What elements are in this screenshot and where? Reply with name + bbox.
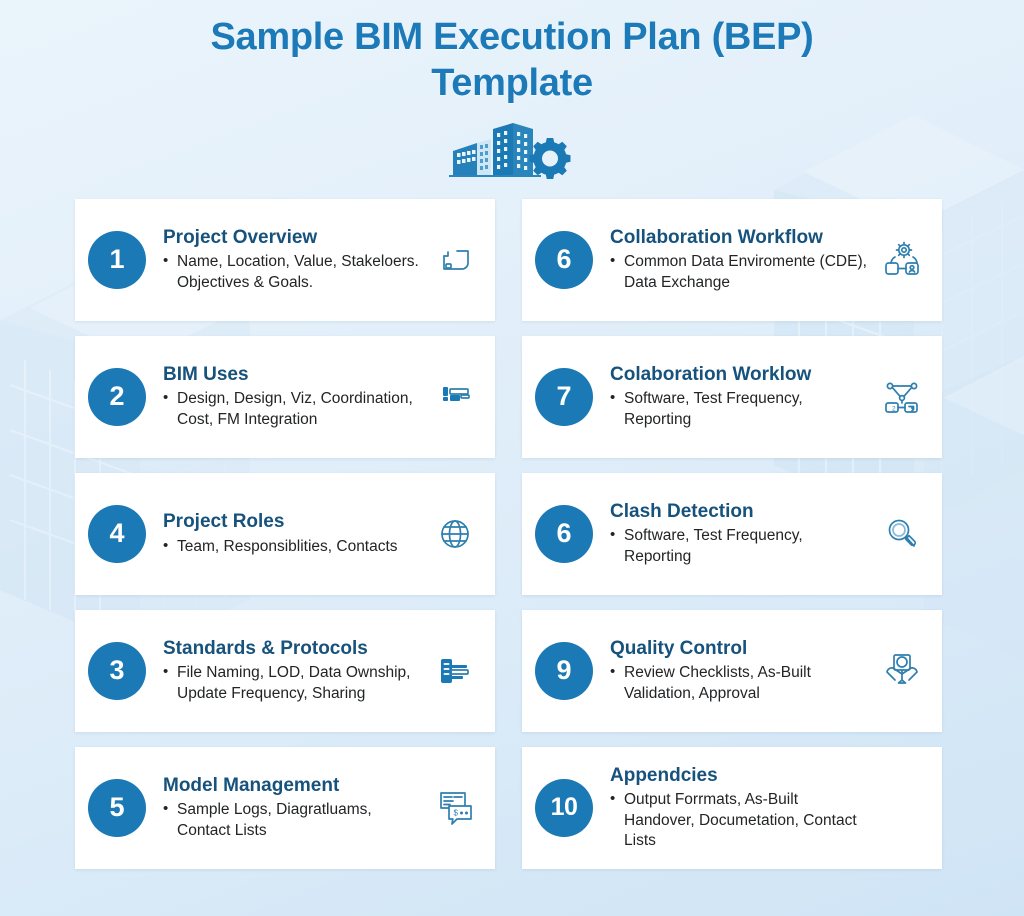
card-number-badge: 10 bbox=[535, 779, 593, 837]
buildings-gear-icon bbox=[447, 119, 577, 181]
card-content: Model Management Sample Logs, Diagratlua… bbox=[146, 775, 427, 841]
card-description: Output Forrmats, As-Built Handover, Docu… bbox=[610, 790, 870, 850]
card-title: Standards & Protocols bbox=[163, 638, 423, 661]
card-number-badge: 7 bbox=[535, 368, 593, 426]
card-appendcies[interactable]: 10 Appendcies Output Forrmats, As-Built … bbox=[522, 747, 942, 869]
card-content: Project Overview Name, Location, Value, … bbox=[146, 227, 427, 293]
card-content: Quality Control Review Checklists, As-Bu… bbox=[593, 638, 874, 704]
document-fold-icon bbox=[429, 234, 481, 286]
card-title: Quality Control bbox=[610, 638, 870, 661]
card-clash-detection[interactable]: 6 Clash Detection Software, Test Frequen… bbox=[522, 473, 942, 595]
card-description: Team, Responsiblities, Contacts bbox=[163, 537, 423, 557]
card-title: Appendcies bbox=[610, 765, 870, 788]
card-content: BIM Uses Design, Design, Viz, Coordinati… bbox=[146, 364, 427, 430]
card-colaboration-worklow[interactable]: 7 Colaboration Worklow Software, Test Fr… bbox=[522, 336, 942, 458]
card-description: Name, Location, Value, Stakeloers. Objec… bbox=[163, 252, 423, 292]
card-content: Standards & Protocols File Naming, LOD, … bbox=[146, 638, 427, 704]
card-model-management[interactable]: 5 Model Management Sample Logs, Diagratl… bbox=[75, 747, 495, 869]
card-number-badge: 5 bbox=[88, 779, 146, 837]
card-title: BIM Uses bbox=[163, 364, 423, 387]
card-content: Colaboration Worklow Software, Test Freq… bbox=[593, 364, 874, 430]
card-description: Review Checklists, As-Built Validation, … bbox=[610, 663, 870, 703]
svg-text:2: 2 bbox=[892, 405, 896, 412]
card-description: File Naming, LOD, Data Ownship, Update F… bbox=[163, 663, 423, 703]
document-list-icon bbox=[429, 645, 481, 697]
card-title: Model Management bbox=[163, 775, 423, 798]
card-number-badge: 1 bbox=[88, 231, 146, 289]
card-description: Design, Design, Viz, Coordination, Cost,… bbox=[163, 389, 423, 429]
magnifier-icon bbox=[876, 508, 928, 560]
page-header: Sample BIM Execution Plan (BEP) Template bbox=[0, 0, 1024, 181]
card-bim-uses[interactable]: 2 BIM Uses Design, Design, Viz, Coordina… bbox=[75, 336, 495, 458]
card-number-badge: 6 bbox=[535, 231, 593, 289]
card-title: Clash Detection bbox=[610, 501, 870, 524]
card-content: Project Roles Team, Responsiblities, Con… bbox=[146, 511, 427, 557]
chat-bubbles-icon: $ bbox=[429, 782, 481, 834]
card-description: Sample Logs, Diagratluams, Contact Lists bbox=[163, 800, 423, 840]
card-description: Software, Test Frequency, Reporting bbox=[610, 389, 870, 429]
card-content: Collaboration Workflow Common Data Envir… bbox=[593, 227, 874, 293]
cards-grid: 1 Project Overview Name, Location, Value… bbox=[0, 199, 1024, 869]
card-project-roles[interactable]: 4 Project Roles Team, Responsiblities, C… bbox=[75, 473, 495, 595]
card-title: Colaboration Worklow bbox=[610, 364, 870, 387]
svg-text:$: $ bbox=[454, 808, 459, 817]
card-project-overview[interactable]: 1 Project Overview Name, Location, Value… bbox=[75, 199, 495, 321]
card-number-badge: 9 bbox=[535, 642, 593, 700]
network-nodes-icon: 2 bbox=[876, 371, 928, 423]
globe-icon bbox=[429, 508, 481, 560]
card-number-badge: 2 bbox=[88, 368, 146, 426]
card-content: Clash Detection Software, Test Frequency… bbox=[593, 501, 874, 567]
gear-people-icon bbox=[876, 234, 928, 286]
document-stack-icon bbox=[876, 782, 928, 834]
card-title: Project Roles bbox=[163, 511, 423, 534]
page-title-line2: Template bbox=[0, 60, 1024, 106]
page-title: Sample BIM Execution Plan (BEP) Template bbox=[0, 14, 1024, 107]
card-number-badge: 6 bbox=[535, 505, 593, 563]
card-title: Project Overview bbox=[163, 227, 423, 250]
card-quality-control[interactable]: 9 Quality Control Review Checklists, As-… bbox=[522, 610, 942, 732]
card-collaboration-workflow[interactable]: 6 Collaboration Workflow Common Data Env… bbox=[522, 199, 942, 321]
card-description: Software, Test Frequency, Reporting bbox=[610, 526, 870, 566]
person-approval-icon bbox=[876, 645, 928, 697]
card-description: Common Data Enviromente (CDE), Data Exch… bbox=[610, 252, 870, 292]
page-title-line1: Sample BIM Execution Plan (BEP) bbox=[0, 14, 1024, 60]
card-number-badge: 4 bbox=[88, 505, 146, 563]
card-title: Collaboration Workflow bbox=[610, 227, 870, 250]
card-number-badge: 3 bbox=[88, 642, 146, 700]
tool-bar-icon bbox=[429, 371, 481, 423]
card-content: Appendcies Output Forrmats, As-Built Han… bbox=[593, 765, 874, 851]
card-standards-protocols[interactable]: 3 Standards & Protocols File Naming, LOD… bbox=[75, 610, 495, 732]
